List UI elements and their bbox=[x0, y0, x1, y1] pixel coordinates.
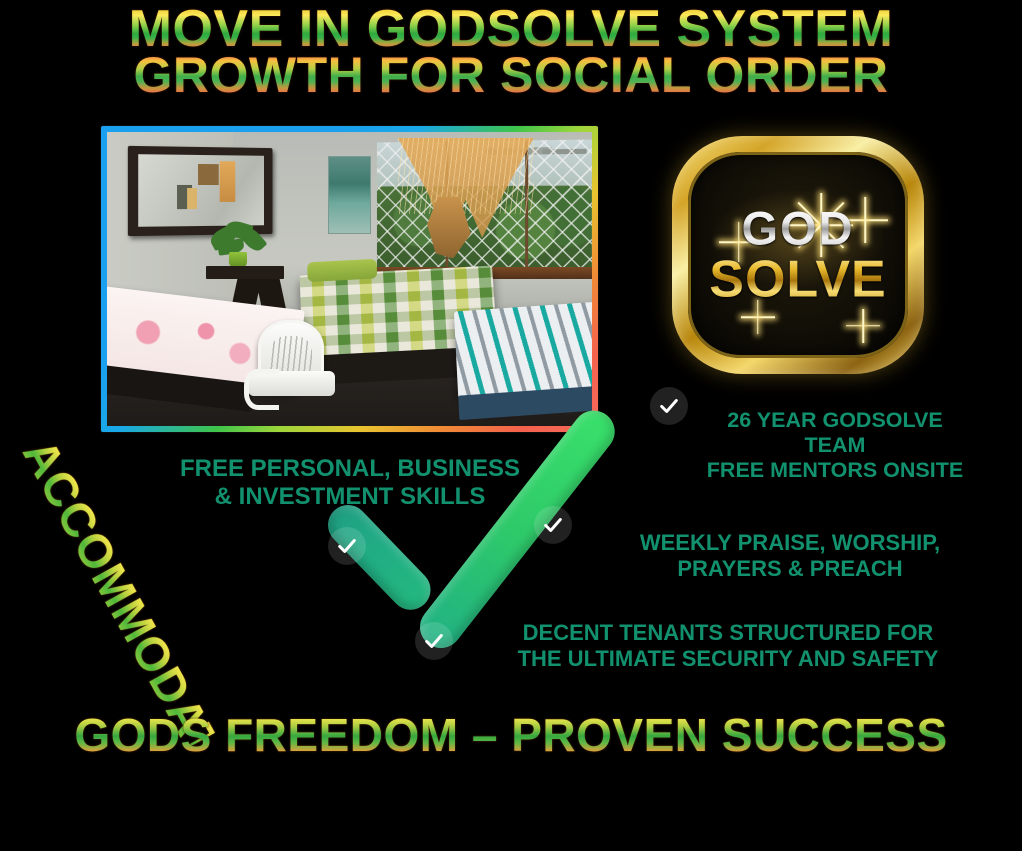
headline-line-2: GROWTH FOR SOCIAL ORDER bbox=[0, 51, 1022, 100]
logo-inner-panel: GOD SOLVE bbox=[688, 152, 908, 358]
godsolve-logo[interactable]: GOD SOLVE bbox=[672, 136, 924, 374]
check-icon bbox=[336, 535, 358, 557]
check-badge-3 bbox=[534, 506, 572, 544]
wall-art bbox=[328, 156, 371, 234]
check-icon bbox=[423, 630, 445, 652]
feature-text-team: 26 YEAR GODSOLVE TEAM FREE MENTORS ONSIT… bbox=[655, 408, 1015, 483]
mirror-reflection bbox=[187, 187, 197, 208]
mirror-glass bbox=[138, 154, 263, 227]
logo-word-god: GOD bbox=[688, 205, 908, 252]
side-table bbox=[206, 266, 284, 279]
headline-block: MOVE IN GODSOLVE SYSTEM GROWTH FOR SOCIA… bbox=[0, 4, 1022, 100]
check-icon bbox=[542, 514, 564, 536]
sparkle-icon bbox=[846, 309, 880, 343]
feature-text-worship: WEEKLY PRAISE, WORSHIP, PRAYERS & PREACH bbox=[590, 530, 990, 581]
bed-pillow bbox=[307, 259, 377, 282]
mirror-reflection bbox=[219, 161, 235, 202]
check-badge-2 bbox=[415, 622, 453, 660]
feature-text-security: DECENT TENANTS STRUCTURED FOR THE ULTIMA… bbox=[488, 620, 968, 671]
potted-plant bbox=[209, 220, 267, 267]
curtain-folds bbox=[398, 138, 534, 214]
logo-wordmark: GOD SOLVE bbox=[688, 205, 908, 306]
feature-text-skills: FREE PERSONAL, BUSINESS & INVESTMENT SKI… bbox=[150, 455, 550, 511]
check-badge-1 bbox=[328, 527, 366, 565]
mirror-reflection bbox=[198, 163, 218, 184]
poster-canvas: MOVE IN GODSOLVE SYSTEM GROWTH FOR SOCIA… bbox=[0, 0, 1022, 768]
footer-tagline: GODS FREEDOM – PROVEN SUCCESS bbox=[0, 708, 1022, 762]
logo-word-solve: SOLVE bbox=[688, 254, 908, 306]
chair-armrest bbox=[244, 369, 279, 410]
